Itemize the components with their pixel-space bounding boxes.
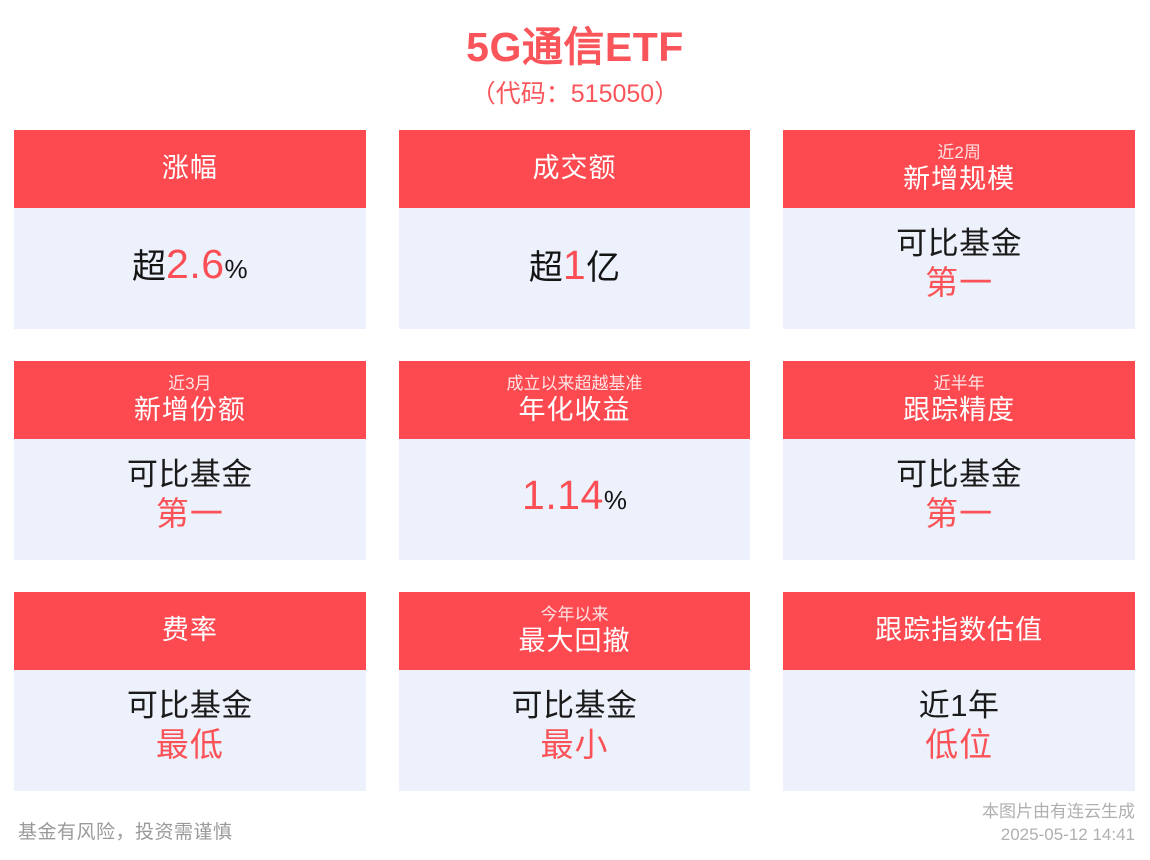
- card-body: 超 2.6 %: [14, 208, 366, 329]
- metric-card-change: 涨幅 超 2.6 %: [14, 130, 366, 329]
- card-title: 跟踪精度: [903, 394, 1015, 426]
- title-block: 5G通信ETF （代码：515050）: [0, 0, 1150, 112]
- metric-card-turnover: 成交额 超 1 亿: [399, 130, 751, 329]
- card-body: 可比基金 第一: [783, 208, 1135, 329]
- value-label: 可比基金: [511, 687, 637, 725]
- value-suffix: %: [604, 478, 627, 522]
- value-label: 近1年: [919, 687, 1000, 725]
- value-highlight: 第一: [156, 494, 224, 534]
- value-label: 可比基金: [896, 225, 1022, 263]
- card-kicker: 近半年: [934, 373, 985, 394]
- metric-card-new-scale: 近2周 新增规模 可比基金 第一: [783, 130, 1135, 329]
- card-header: 成立以来超越基准 年化收益: [399, 361, 751, 439]
- card-title: 新增份额: [134, 394, 246, 426]
- metric-card-annualized-return: 成立以来超越基准 年化收益 1.14 %: [399, 361, 751, 560]
- fund-code-subtitle: （代码：515050）: [0, 76, 1150, 112]
- card-title: 新增规模: [903, 163, 1015, 195]
- value-suffix: 亿: [586, 246, 620, 290]
- value-highlight: 第一: [925, 494, 993, 534]
- value-number: 2.6: [166, 242, 225, 286]
- card-header: 费率: [14, 592, 366, 670]
- card-kicker: 近3月: [168, 373, 211, 394]
- value-highlight: 第一: [925, 263, 993, 303]
- value-label: 可比基金: [896, 456, 1022, 494]
- card-header: 近2周 新增规模: [783, 130, 1135, 208]
- value-label: 可比基金: [127, 456, 253, 494]
- card-title: 年化收益: [518, 394, 630, 426]
- generation-info: 本图片由有连云生成 2025-05-12 14:41: [982, 800, 1135, 846]
- generated-timestamp: 2025-05-12 14:41: [982, 823, 1135, 846]
- card-header: 近3月 新增份额: [14, 361, 366, 439]
- footer: 基金有风险，投资需谨慎 本图片由有连云生成 2025-05-12 14:41: [0, 798, 1150, 846]
- value-line: 1.14 %: [522, 473, 627, 522]
- card-header: 跟踪指数估值: [783, 592, 1135, 670]
- metric-card-index-valuation: 跟踪指数估值 近1年 低位: [783, 592, 1135, 791]
- value-number: 1.14: [522, 473, 604, 517]
- card-body: 近1年 低位: [783, 670, 1135, 791]
- card-header: 涨幅: [14, 130, 366, 208]
- card-kicker: 近2周: [937, 142, 980, 163]
- card-title: 成交额: [532, 152, 616, 184]
- card-header: 近半年 跟踪精度: [783, 361, 1135, 439]
- metric-card-fee-rate: 费率 可比基金 最低: [14, 592, 366, 791]
- card-body: 可比基金 第一: [14, 439, 366, 560]
- value-highlight: 低位: [925, 725, 993, 765]
- card-body: 可比基金 最小: [399, 670, 751, 791]
- page-title: 5G通信ETF: [0, 22, 1150, 72]
- card-body: 可比基金 最低: [14, 670, 366, 791]
- value-line: 超 2.6 %: [132, 242, 248, 291]
- value-prefix: 超: [132, 245, 166, 289]
- value-prefix: 超: [529, 246, 563, 290]
- card-title: 最大回撤: [518, 625, 630, 657]
- metric-card-new-shares: 近3月 新增份额 可比基金 第一: [14, 361, 366, 560]
- card-body: 可比基金 第一: [783, 439, 1135, 560]
- etf-summary-poster: 5G通信ETF （代码：515050） 涨幅 超 2.6 % 成交额: [0, 0, 1150, 860]
- card-kicker: 今年以来: [540, 604, 608, 625]
- card-title: 费率: [162, 614, 218, 646]
- card-kicker: 成立以来超越基准: [506, 373, 642, 394]
- generated-by-label: 本图片由有连云生成: [982, 800, 1135, 823]
- value-number: 1: [563, 243, 586, 287]
- card-title: 涨幅: [162, 152, 218, 184]
- value-label: 可比基金: [127, 687, 253, 725]
- value-suffix: %: [225, 247, 248, 291]
- card-header: 今年以来 最大回撤: [399, 592, 751, 670]
- card-title: 跟踪指数估值: [875, 614, 1043, 646]
- card-body: 超 1 亿: [399, 208, 751, 329]
- value-highlight: 最小: [540, 725, 608, 765]
- metric-card-grid: 涨幅 超 2.6 % 成交额 超 1 亿: [14, 130, 1135, 791]
- risk-disclaimer: 基金有风险，投资需谨慎: [18, 820, 233, 846]
- metric-card-tracking-accuracy: 近半年 跟踪精度 可比基金 第一: [783, 361, 1135, 560]
- value-line: 超 1 亿: [529, 243, 620, 290]
- value-highlight: 最低: [156, 725, 224, 765]
- card-header: 成交额: [399, 130, 751, 208]
- metric-card-max-drawdown: 今年以来 最大回撤 可比基金 最小: [399, 592, 751, 791]
- card-body: 1.14 %: [399, 439, 751, 560]
